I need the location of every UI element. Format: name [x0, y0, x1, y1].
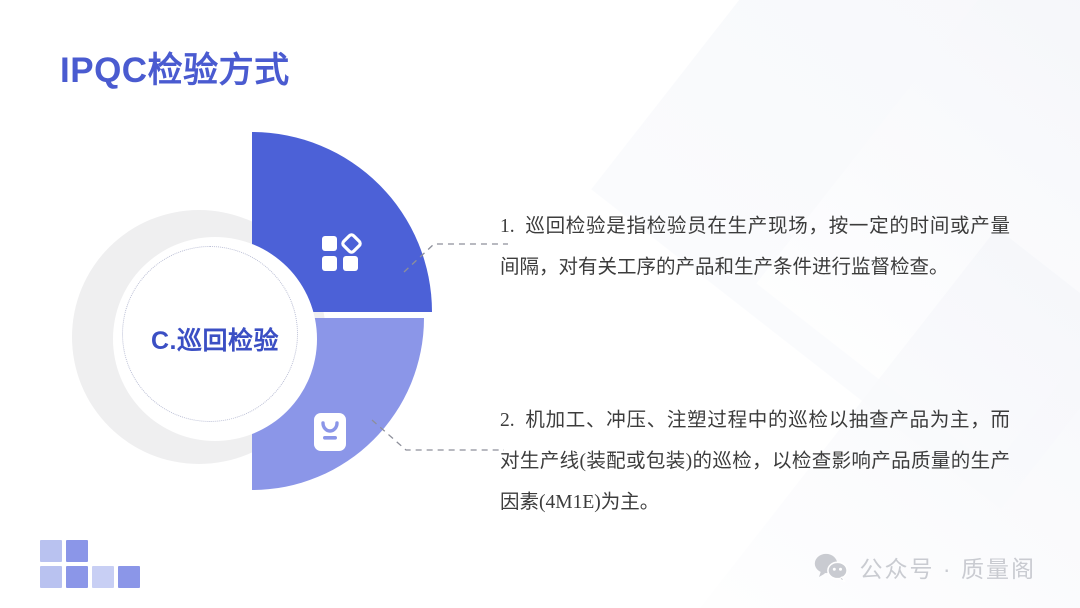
content-item-1: 1.巡回检验是指检验员在生产现场，按一定的时间或产量间隔，对有关工序的产品和生产… — [500, 206, 1010, 288]
decorative-square — [40, 566, 62, 588]
content-item-2: 2.机加工、冲压、注塑过程中的巡检以抽查产品为主，而对生产线(装配或包装)的巡检… — [500, 400, 1010, 523]
decorative-square — [92, 566, 114, 588]
decorative-square — [66, 540, 88, 562]
watermark-text: 公众号 · 质量阁 — [860, 550, 1036, 584]
circular-diagram: C.巡回检验 — [72, 132, 432, 492]
content-item-2-number: 2. — [500, 410, 515, 431]
page-title: IPQC检验方式 — [60, 42, 290, 93]
box-smile-icon — [308, 410, 352, 454]
decorative-square — [66, 566, 88, 588]
decorative-square — [118, 566, 140, 588]
content-item-1-number: 1. — [500, 216, 515, 237]
content-item-2-text: 机加工、冲压、注塑过程中的巡检以抽查产品为主，而对生产线(装配或包装)的巡检，以… — [500, 410, 1010, 513]
grid-diamond-icon — [320, 232, 364, 276]
wechat-icon — [814, 552, 848, 582]
diagram-center-label: C.巡回检验 — [120, 244, 310, 434]
content-item-1-text: 巡回检验是指检验员在生产现场，按一定的时间或产量间隔，对有关工序的产品和生产条件… — [500, 216, 1010, 278]
decorative-square — [40, 540, 62, 562]
watermark: 公众号 · 质量阁 — [814, 550, 1036, 584]
slide-canvas: IPQC检验方式 C.巡回检验 1.巡回检验是指检验员在生产现场，按一定的时间或… — [0, 0, 1080, 608]
decorative-square-grid — [40, 526, 160, 588]
